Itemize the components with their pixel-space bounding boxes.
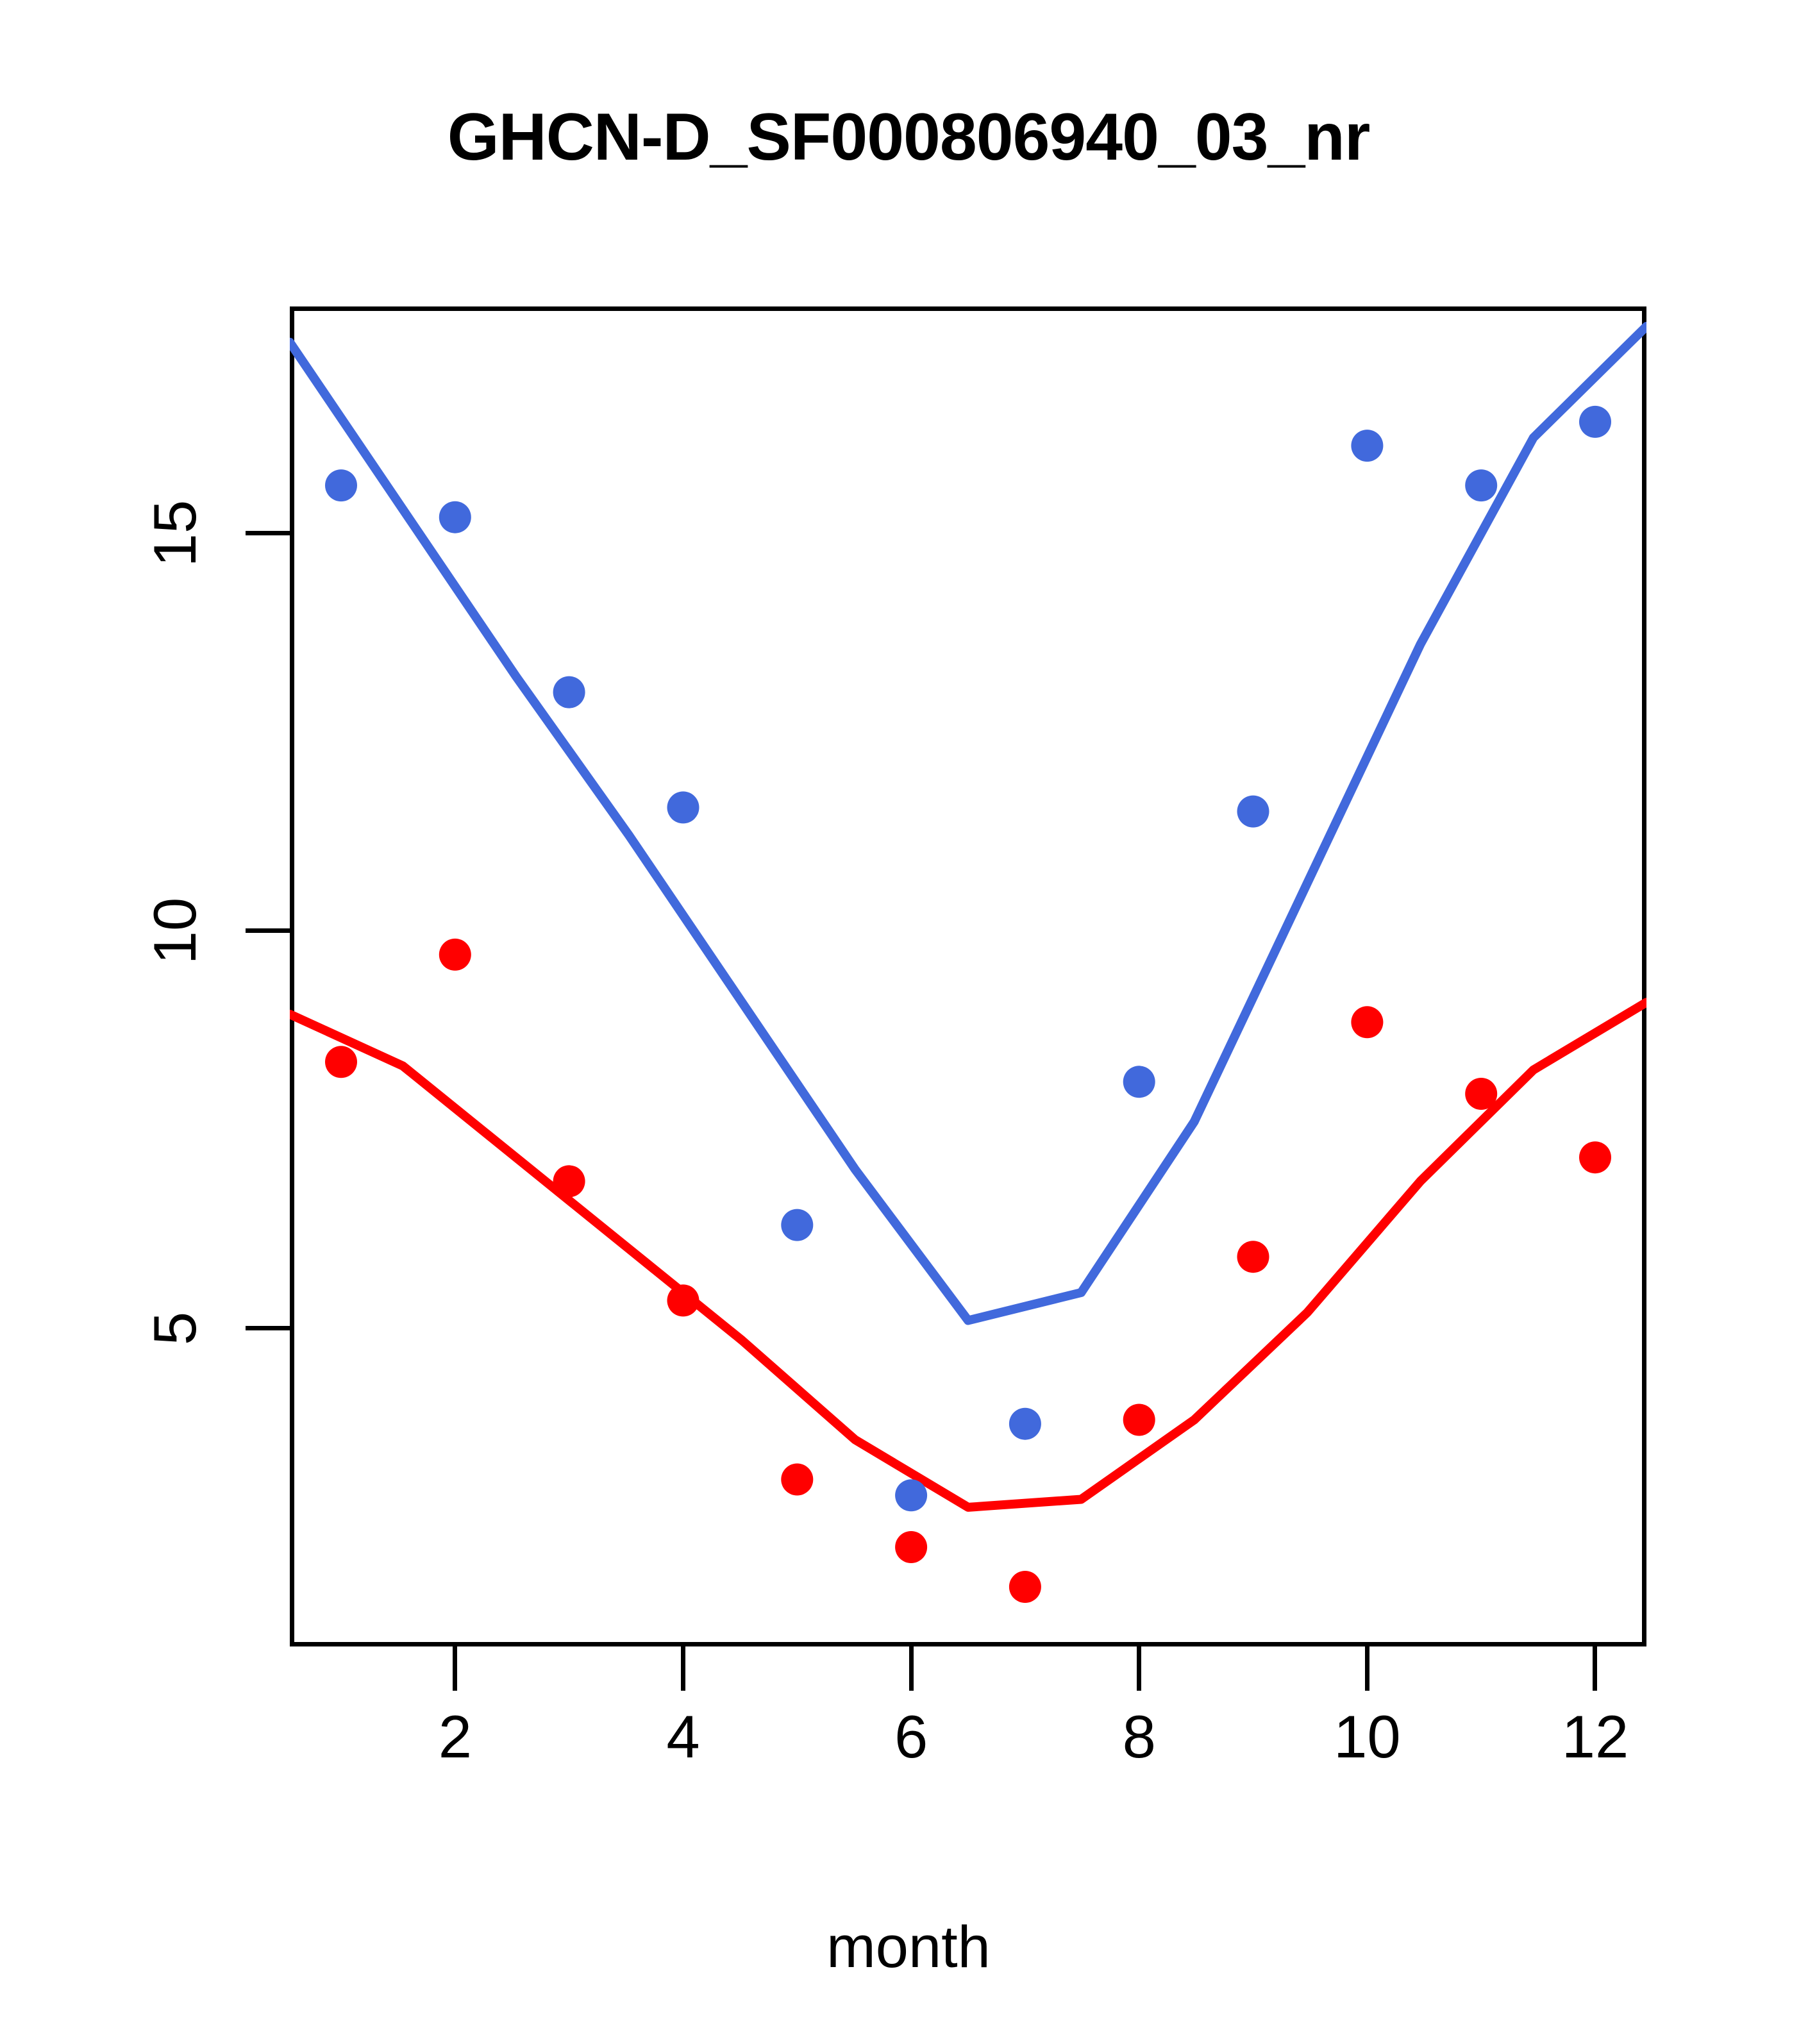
data-point [553, 676, 585, 708]
x-tick-label: 6 [828, 1702, 994, 1772]
plot-canvas [290, 306, 1646, 1646]
x-tick-mark [1365, 1646, 1369, 1691]
data-point [439, 501, 471, 533]
data-point [325, 1046, 357, 1078]
data-point [1123, 1066, 1155, 1098]
x-tick-mark [453, 1646, 457, 1691]
data-point [781, 1464, 813, 1496]
red-line [290, 1002, 1646, 1507]
data-point [1009, 1571, 1041, 1603]
data-point [1351, 430, 1383, 462]
data-point [1237, 796, 1269, 828]
x-tick-label: 4 [599, 1702, 766, 1772]
data-point [1351, 1006, 1383, 1038]
data-point [895, 1479, 927, 1511]
blue-points [325, 406, 1611, 1511]
x-tick-label: 12 [1512, 1702, 1679, 1772]
data-point [1123, 1404, 1155, 1436]
y-tick-mark [246, 1326, 290, 1330]
y-tick-label: 5 [140, 1264, 210, 1393]
x-tick-mark [1593, 1646, 1597, 1691]
blue-line [290, 326, 1646, 1321]
y-tick-label: 10 [140, 867, 210, 995]
data-point [1465, 469, 1497, 501]
x-axis-title: month [0, 1914, 1817, 1981]
data-point [325, 469, 357, 501]
x-tick-label: 2 [372, 1702, 539, 1772]
y-tick-label: 15 [140, 469, 210, 598]
x-tick-label: 10 [1284, 1702, 1450, 1772]
data-point [1465, 1078, 1497, 1110]
data-point [1237, 1241, 1269, 1273]
data-point [553, 1165, 585, 1197]
data-point [1579, 406, 1611, 438]
x-tick-label: 8 [1056, 1702, 1223, 1772]
data-point [781, 1209, 813, 1241]
data-point [895, 1531, 927, 1563]
y-tick-mark [246, 531, 290, 535]
x-tick-mark [1137, 1646, 1141, 1691]
y-tick-mark [246, 928, 290, 933]
data-point [1009, 1408, 1041, 1440]
data-point [1579, 1141, 1611, 1173]
x-tick-mark [681, 1646, 685, 1691]
data-point [439, 939, 471, 971]
page-title: GHCN-D_SF000806940_03_nr [0, 99, 1817, 176]
chart-page: GHCN-D_SF000806940_03_nr 51015 24681012 … [0, 0, 1817, 2044]
x-tick-mark [909, 1646, 914, 1691]
data-point [667, 1284, 699, 1316]
data-point [667, 791, 699, 823]
